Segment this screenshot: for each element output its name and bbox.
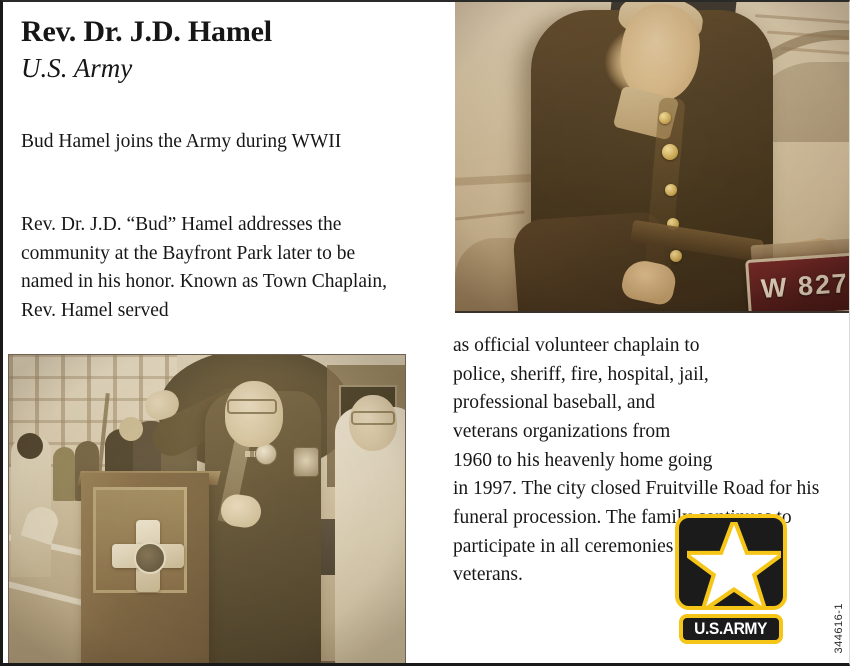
uniform-button [662, 144, 678, 160]
vfw-emblem-center [134, 542, 166, 574]
vfw-emblem-icon [112, 520, 184, 592]
attendee-glasses [351, 411, 395, 425]
army-wordmark-text: U.S.ARMY [695, 619, 768, 639]
license-plate: W 827 [745, 252, 850, 313]
podium [81, 473, 209, 665]
chaplain-glasses [227, 399, 277, 414]
us-army-logo: U.S.ARMY [675, 514, 787, 646]
army-star-icon [687, 522, 781, 608]
car-trim-line [755, 14, 850, 25]
caption-wwii-enlistment: Bud Hamel joins the Army during WWII [21, 128, 403, 157]
car-body-crease [455, 210, 525, 220]
crowd-figure-head [17, 433, 43, 459]
crowd-figure [53, 447, 75, 501]
reference-code: 344616-1 [833, 603, 845, 654]
chaplain-shoulder-patch [293, 447, 319, 477]
page-title: Rev. Dr. J.D. Hamel [21, 16, 441, 48]
photo-scene-ceremony [9, 355, 405, 664]
crowd-figure-head [119, 417, 143, 441]
license-plate-number: W 827 [760, 267, 850, 304]
army-wordmark-bar: U.S.ARMY [679, 614, 783, 644]
photo-chaplain-ceremony [8, 354, 406, 665]
body-paragraph-left: Rev. Dr. J.D. “Bud” Hamel addresses the … [21, 211, 407, 326]
uniform-button [670, 250, 682, 262]
uniform-button [665, 184, 677, 196]
chaplain-head [225, 381, 283, 447]
logo-text-wrap-spacer [713, 332, 845, 452]
photo-scene-soldier: W 827 [455, 2, 850, 311]
uniform-button [659, 112, 671, 124]
army-star-badge [675, 514, 787, 610]
podium-front-panel [93, 487, 187, 593]
photo-young-soldier: W 827 [455, 2, 850, 313]
memorial-exhibit-panel: Rev. Dr. J.D. Hamel U.S. Army [0, 0, 850, 666]
page-subtitle: U.S. Army [21, 54, 441, 83]
